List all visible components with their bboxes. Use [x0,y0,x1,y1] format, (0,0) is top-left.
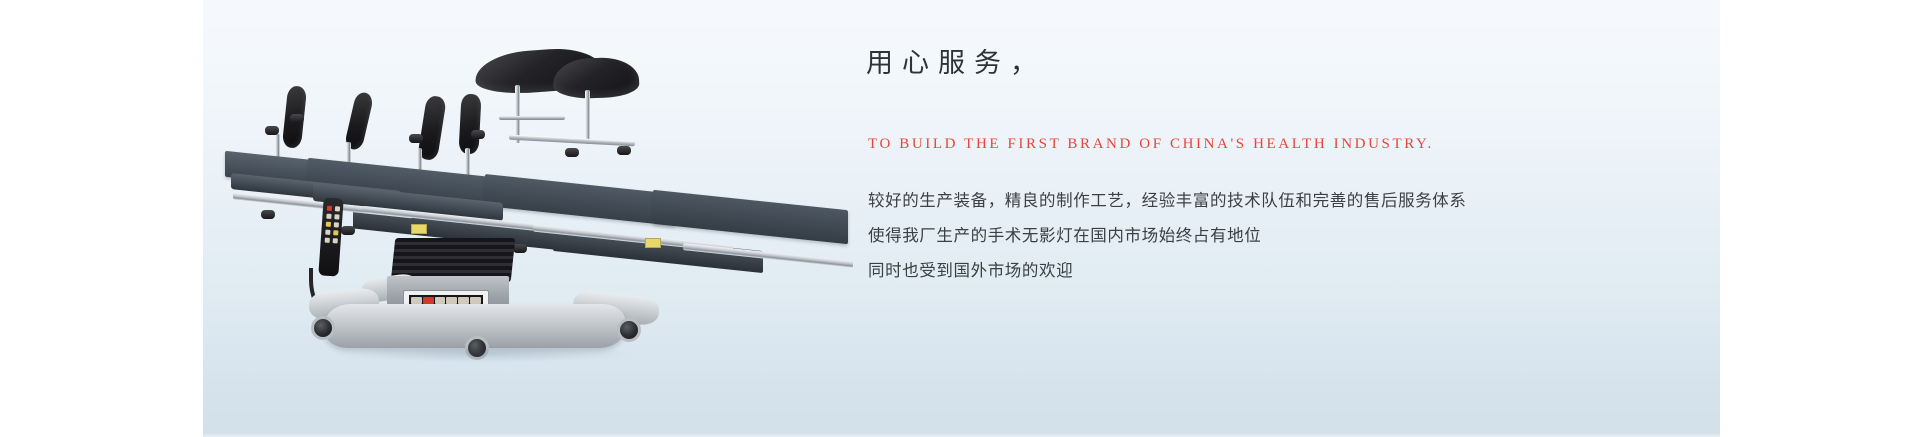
pendant-button [335,206,340,211]
control-key [446,297,457,304]
banner-tagline-english: TO BUILD THE FIRST BRAND OF CHINA'S HEAL… [868,136,1434,153]
headrest-crossbar-upper [499,116,565,120]
clamp-knob-8 [565,148,579,157]
clamp-knob-2 [290,114,304,123]
control-key [423,297,434,304]
pendant-button [327,206,332,211]
body-line-1: 较好的生产装备，精良的制作工艺，经验丰富的技术队伍和完善的售后服务体系 [868,184,1467,219]
headrest-crossbar [509,135,635,147]
pendant-button-grid [325,206,341,244]
pendant-button [325,230,330,235]
operating-table-image [213,30,873,370]
clamp-knob-1 [265,126,279,135]
control-key [458,297,469,304]
caster-wheel-left [311,316,335,340]
clamp-knob-9 [617,146,631,155]
control-key [411,297,422,304]
warning-label-1 [411,224,427,234]
caster-wheel-right [617,318,641,342]
lateral-support-4 [458,94,481,155]
warning-label-2 [645,238,661,248]
clamp-knob-5 [261,210,275,219]
clamp-knob-6 [341,226,355,235]
clamp-knob-7 [513,244,527,253]
control-key [435,297,446,304]
promo-banner: 用心服务， TO BUILD THE FIRST BRAND OF CHINA'… [203,0,1720,437]
pendant-button [334,214,339,219]
table-section-seat [485,174,675,226]
pendant-button [326,222,331,227]
body-line-2: 使得我厂生产的手术无影灯在国内市场始终占有地位 [868,219,1467,254]
body-line-3: 同时也受到国外市场的欢迎 [868,254,1467,289]
hand-pendant-remote [318,197,343,276]
banner-body-copy: 较好的生产装备，精良的制作工艺，经验丰富的技术队伍和完善的售后服务体系 使得我厂… [868,184,1467,289]
clamp-knob-3 [409,134,423,143]
headrest-post-right [585,90,590,144]
banner-headline: 用心服务， [866,44,1686,82]
table-section-leg [653,190,848,244]
pendant-button [334,222,339,227]
clamp-knob-4 [471,130,485,139]
pendant-button [333,238,338,243]
floor-shadow [333,346,633,362]
banner-copy: 用心服务， TO BUILD THE FIRST BRAND OF CHINA'… [866,44,1686,82]
pendant-button [326,214,331,219]
banner-page: 用心服务， TO BUILD THE FIRST BRAND OF CHINA'… [0,0,1920,437]
pendant-button [325,238,330,243]
pendant-button [333,230,338,235]
control-key [470,297,481,304]
